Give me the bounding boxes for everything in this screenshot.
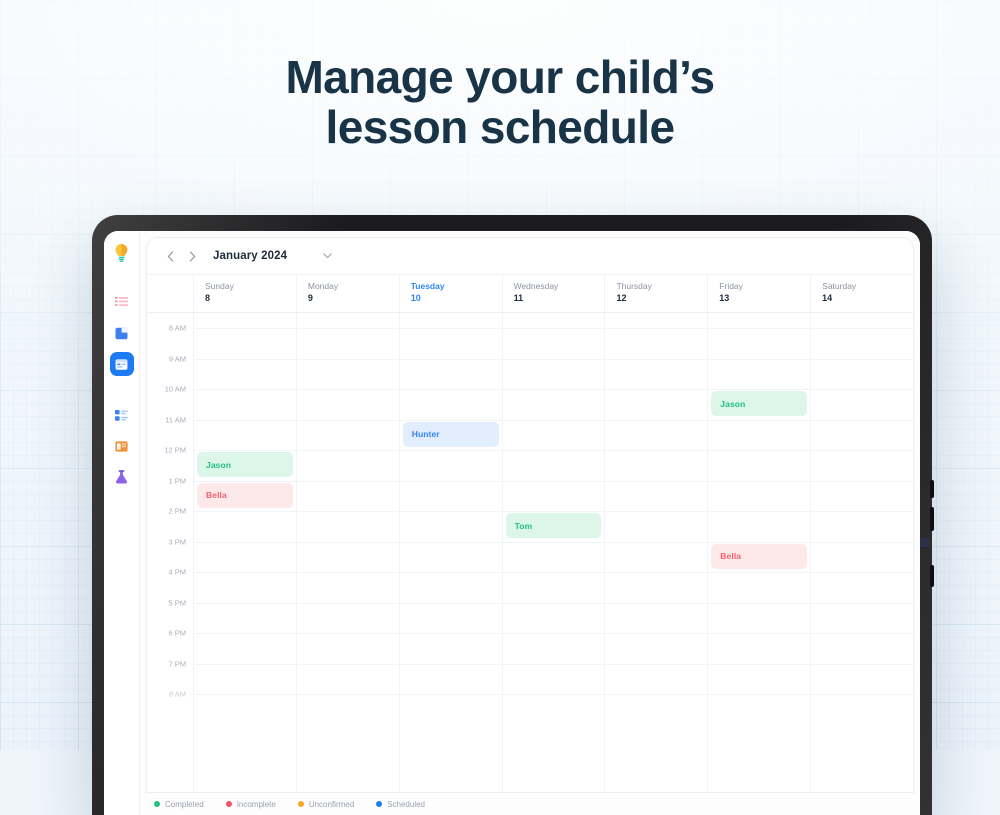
day-column-header-saturday[interactable]: Saturday14 <box>811 275 913 312</box>
day-name: Wednesday <box>514 280 605 292</box>
hour-label: 3 PM <box>168 537 186 546</box>
tablet-screen: January 2024 Sunday8Monday9Tuesday10Wedn… <box>104 231 920 815</box>
hour-gridline <box>503 603 605 604</box>
headline-line-1: Manage your child’s <box>285 51 714 103</box>
day-number: 11 <box>514 292 605 304</box>
hour-gridline <box>400 389 502 390</box>
hour-gridline <box>605 389 707 390</box>
legend-item-incomplete: Incomplete <box>226 800 276 809</box>
hour-gridline <box>503 450 605 451</box>
hour-gridline <box>194 481 296 482</box>
hour-gridline <box>400 450 502 451</box>
lightbulb-logo-icon[interactable] <box>110 240 134 264</box>
hour-gridline <box>605 664 707 665</box>
hour-gridline <box>194 328 296 329</box>
hour-gridline <box>297 694 399 695</box>
hour-gridline <box>297 328 399 329</box>
hour-gridline <box>605 572 707 573</box>
legend-item-scheduled: Scheduled <box>376 800 425 809</box>
day-number: 10 <box>411 292 502 304</box>
calendar-event[interactable]: Jason <box>711 391 807 416</box>
hour-gridline <box>194 359 296 360</box>
hour-gridline <box>811 359 913 360</box>
calendar-event[interactable]: Hunter <box>403 422 499 447</box>
hour-gridline <box>297 359 399 360</box>
hour-gridline <box>503 328 605 329</box>
hour-gridline <box>400 359 502 360</box>
hour-gridline <box>708 420 810 421</box>
hour-gridline <box>400 542 502 543</box>
hour-gridline <box>811 450 913 451</box>
legend-item-unconfirmed: Unconfirmed <box>298 800 354 809</box>
hour-gridline <box>708 511 810 512</box>
device-button-bottom[interactable] <box>930 565 934 587</box>
legend-dot-icon <box>298 801 304 807</box>
time-gutter: 8 AM9 AM10 AM11 AM12 PM1 PM2 PM3 PM4 PM5… <box>147 313 194 792</box>
hour-gridline <box>811 481 913 482</box>
hour-gridline <box>194 603 296 604</box>
hour-label: 6 PM <box>168 629 186 638</box>
day-number: 14 <box>822 292 913 304</box>
day-name: Monday <box>308 280 399 292</box>
hour-gridline <box>708 694 810 695</box>
hour-gridline <box>605 542 707 543</box>
hour-label: 8 AM <box>169 690 186 699</box>
current-month-label: January 2024 <box>213 250 287 262</box>
sidebar-item-list[interactable] <box>110 290 134 314</box>
hour-gridline <box>811 389 913 390</box>
hour-gridline <box>503 481 605 482</box>
hour-gridline <box>811 572 913 573</box>
hour-gridline <box>811 511 913 512</box>
legend-label: Scheduled <box>387 800 425 809</box>
hour-gridline <box>811 603 913 604</box>
hour-gridline <box>708 481 810 482</box>
day-number: 12 <box>616 292 707 304</box>
hour-label: 7 PM <box>168 659 186 668</box>
hour-gridline <box>194 389 296 390</box>
legend-label: Incomplete <box>237 800 276 809</box>
hour-gridline <box>194 694 296 695</box>
hour-gridline <box>194 420 296 421</box>
day-column-header-sunday[interactable]: Sunday8 <box>194 275 297 312</box>
hour-gridline <box>503 511 605 512</box>
day-number: 8 <box>205 292 296 304</box>
hour-gridline <box>297 450 399 451</box>
hour-label: 2 PM <box>168 507 186 516</box>
hour-gridline <box>503 542 605 543</box>
hour-gridline <box>194 542 296 543</box>
hour-gridline <box>605 328 707 329</box>
hour-label: 12 PM <box>164 446 186 455</box>
day-column-friday[interactable]: JasonBella <box>708 313 811 792</box>
hour-gridline <box>297 511 399 512</box>
hour-gridline <box>400 694 502 695</box>
hour-gridline <box>194 450 296 451</box>
hour-gridline <box>297 542 399 543</box>
sidebar-item-calendar[interactable] <box>110 352 134 376</box>
hour-gridline <box>605 359 707 360</box>
hour-gridline <box>503 420 605 421</box>
hour-gridline <box>400 664 502 665</box>
day-column-wednesday[interactable]: Tom <box>503 313 606 792</box>
hour-gridline <box>297 420 399 421</box>
calendar-event[interactable]: Bella <box>197 483 293 508</box>
calendar-event[interactable]: Bella <box>711 544 807 569</box>
page-title: Manage your child’s lesson schedule <box>0 52 1000 152</box>
hour-gridline <box>297 633 399 634</box>
hour-gridline <box>503 389 605 390</box>
day-number: 9 <box>308 292 399 304</box>
sidebar-item-flask[interactable] <box>110 465 134 489</box>
hour-gridline <box>708 328 810 329</box>
hour-gridline <box>708 450 810 451</box>
sidebar-item-card[interactable] <box>110 434 134 458</box>
status-legend: CompletedIncompleteUnconfirmedScheduled <box>146 793 914 815</box>
hour-gridline <box>297 603 399 604</box>
device-button-top[interactable] <box>930 480 934 498</box>
day-column-header-tuesday[interactable]: Tuesday10 <box>400 275 503 312</box>
hour-gridline <box>400 603 502 604</box>
app-sidebar <box>104 231 140 815</box>
day-name: Friday <box>719 280 810 292</box>
calendar-columns: JasonBellaHunterTomJasonBella <box>194 313 913 792</box>
day-column-saturday[interactable] <box>811 313 913 792</box>
hour-gridline <box>811 633 913 634</box>
day-column-sunday[interactable]: JasonBella <box>194 313 297 792</box>
legend-label: Unconfirmed <box>309 800 354 809</box>
hour-gridline <box>605 420 707 421</box>
hour-gridline <box>503 572 605 573</box>
hour-label: 1 PM <box>168 476 186 485</box>
hour-gridline <box>297 481 399 482</box>
hour-gridline <box>400 328 502 329</box>
hour-label: 10 AM <box>165 385 186 394</box>
hour-gridline <box>708 633 810 634</box>
hour-gridline <box>194 633 296 634</box>
hour-gridline <box>503 664 605 665</box>
legend-dot-icon <box>226 801 232 807</box>
day-column-thursday[interactable] <box>605 313 708 792</box>
hour-gridline <box>400 572 502 573</box>
day-column-header-friday[interactable]: Friday13 <box>708 275 811 312</box>
hour-gridline <box>708 664 810 665</box>
sidebar-item-dashboard[interactable] <box>110 403 134 427</box>
tablet-device-frame: January 2024 Sunday8Monday9Tuesday10Wedn… <box>92 215 932 815</box>
day-name: Tuesday <box>411 280 502 292</box>
hour-gridline <box>400 633 502 634</box>
day-number: 13 <box>719 292 810 304</box>
hour-gridline <box>811 694 913 695</box>
hour-gridline <box>811 542 913 543</box>
hour-gridline <box>297 572 399 573</box>
hour-gridline <box>605 694 707 695</box>
time-gutter-header <box>147 275 194 312</box>
legend-item-completed: Completed <box>154 800 204 809</box>
legend-label: Completed <box>165 800 204 809</box>
hour-gridline <box>605 633 707 634</box>
hour-gridline <box>811 664 913 665</box>
hour-gridline <box>194 572 296 573</box>
sidebar-item-book[interactable] <box>110 321 134 345</box>
hour-gridline <box>811 328 913 329</box>
hour-gridline <box>503 359 605 360</box>
next-week-button[interactable] <box>182 246 202 266</box>
hour-gridline <box>605 450 707 451</box>
calendar-day-header: Sunday8Monday9Tuesday10Wednesday11Thursd… <box>147 275 913 313</box>
hour-gridline <box>708 603 810 604</box>
headline-line-2: lesson schedule <box>0 102 1000 152</box>
chevron-down-icon[interactable] <box>319 248 335 264</box>
day-column-tuesday[interactable]: Hunter <box>400 313 503 792</box>
app-main: January 2024 Sunday8Monday9Tuesday10Wedn… <box>140 231 920 815</box>
hour-gridline <box>605 603 707 604</box>
prev-week-button[interactable] <box>160 246 180 266</box>
calendar-event[interactable]: Tom <box>506 513 602 538</box>
hour-gridline <box>194 511 296 512</box>
day-column-monday[interactable] <box>297 313 400 792</box>
hour-label: 4 PM <box>168 568 186 577</box>
hour-gridline <box>400 481 502 482</box>
hour-label: 8 AM <box>169 324 186 333</box>
hour-gridline <box>605 481 707 482</box>
hour-gridline <box>708 572 810 573</box>
hour-gridline <box>400 511 502 512</box>
day-column-header-monday[interactable]: Monday9 <box>297 275 400 312</box>
hour-label: 9 AM <box>169 354 186 363</box>
calendar-card: January 2024 Sunday8Monday9Tuesday10Wedn… <box>146 237 914 793</box>
calendar-grid: 8 AM9 AM10 AM11 AM12 PM1 PM2 PM3 PM4 PM5… <box>147 313 913 792</box>
hour-gridline <box>503 694 605 695</box>
hour-gridline <box>297 664 399 665</box>
device-connector-icon <box>920 538 929 547</box>
hour-gridline <box>708 542 810 543</box>
day-column-header-thursday[interactable]: Thursday12 <box>605 275 708 312</box>
hour-label: 5 PM <box>168 598 186 607</box>
hour-gridline <box>297 389 399 390</box>
hour-gridline <box>811 420 913 421</box>
day-column-header-wednesday[interactable]: Wednesday11 <box>503 275 606 312</box>
calendar-event[interactable]: Jason <box>197 452 293 477</box>
device-volume-button[interactable] <box>930 507 934 531</box>
day-name: Saturday <box>822 280 913 292</box>
legend-dot-icon <box>154 801 160 807</box>
hour-gridline <box>708 389 810 390</box>
hour-gridline <box>605 511 707 512</box>
hour-gridline <box>400 420 502 421</box>
day-name: Sunday <box>205 280 296 292</box>
legend-dot-icon <box>376 801 382 807</box>
hour-label: 11 AM <box>165 415 186 424</box>
hour-gridline <box>503 633 605 634</box>
hour-gridline <box>708 359 810 360</box>
hour-gridline <box>194 664 296 665</box>
calendar-toolbar: January 2024 <box>147 238 913 275</box>
day-name: Thursday <box>616 280 707 292</box>
